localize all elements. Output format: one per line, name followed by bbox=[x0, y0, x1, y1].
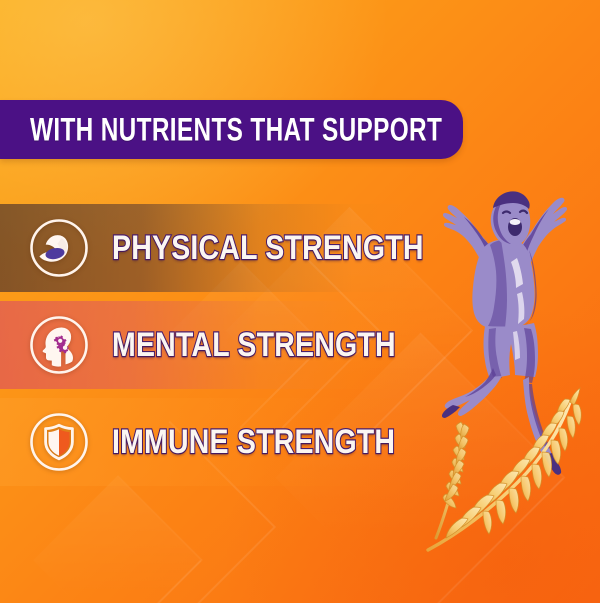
bicep-flex-icon bbox=[28, 217, 90, 279]
wheat-stalks-illustration bbox=[418, 378, 600, 560]
promo-poster: WITH NUTRIENTS THAT SUPPORT PHYSICAL STR… bbox=[0, 0, 600, 603]
benefit-label-immune: IMMUNE STRENGTH bbox=[112, 422, 395, 462]
shield-icon bbox=[28, 411, 90, 473]
benefit-label-mental: MENTAL STRENGTH bbox=[112, 325, 396, 365]
header-banner: WITH NUTRIENTS THAT SUPPORT bbox=[0, 100, 463, 159]
benefit-label-physical: PHYSICAL STRENGTH bbox=[112, 228, 424, 268]
head-gears-icon bbox=[28, 314, 90, 376]
banner-title: WITH NUTRIENTS THAT SUPPORT bbox=[30, 111, 442, 148]
